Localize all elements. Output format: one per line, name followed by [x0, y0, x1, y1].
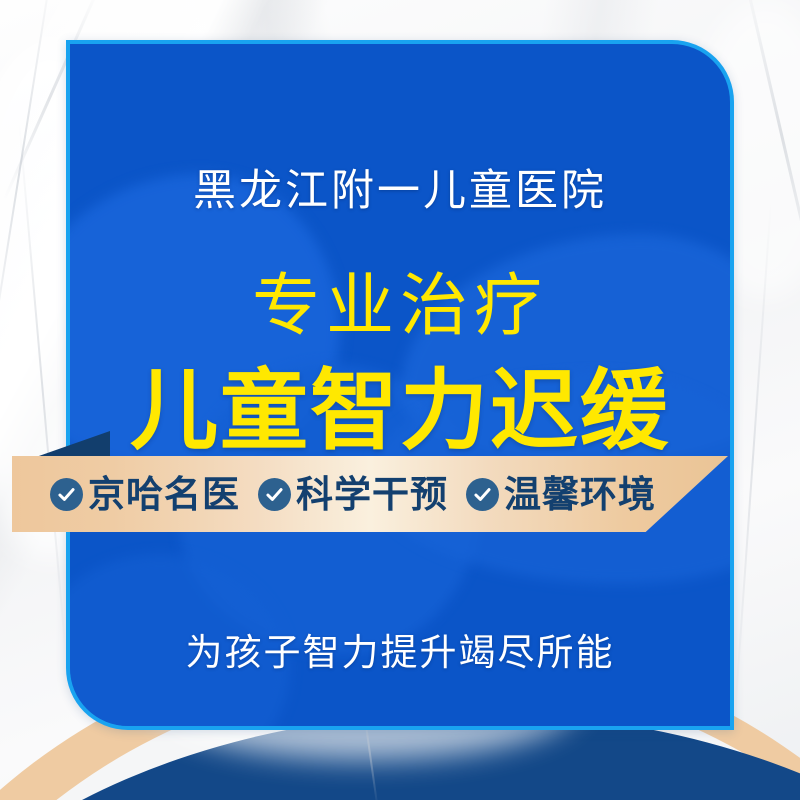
feature-item-1: 京哈名医: [50, 476, 240, 513]
headline-primary: 专业治疗: [70, 250, 730, 349]
feature-item-3: 温馨环境: [466, 476, 656, 513]
feature-label: 科学干预: [296, 476, 448, 513]
hospital-name: 黑龙江附一儿童医院: [70, 156, 730, 218]
main-blue-card: 黑龙江附一儿童医院 专业治疗 儿童智力迟缓 为孩子智力提升竭尽所能: [70, 44, 730, 726]
headline-secondary: 儿童智力迟缓: [70, 340, 730, 467]
poster-canvas: 黑龙江附一儿童医院 专业治疗 儿童智力迟缓 为孩子智力提升竭尽所能 京哈名医科学…: [0, 0, 800, 800]
feature-item-2: 科学干预: [258, 476, 448, 513]
check-circle-icon: [466, 478, 499, 511]
feature-list: 京哈名医科学干预温馨环境: [12, 456, 728, 532]
check-circle-icon: [50, 478, 83, 511]
feature-label: 京哈名医: [88, 476, 240, 513]
tagline: 为孩子智力提升竭尽所能: [70, 622, 730, 676]
check-circle-icon: [258, 478, 291, 511]
feature-label: 温馨环境: [504, 476, 656, 513]
